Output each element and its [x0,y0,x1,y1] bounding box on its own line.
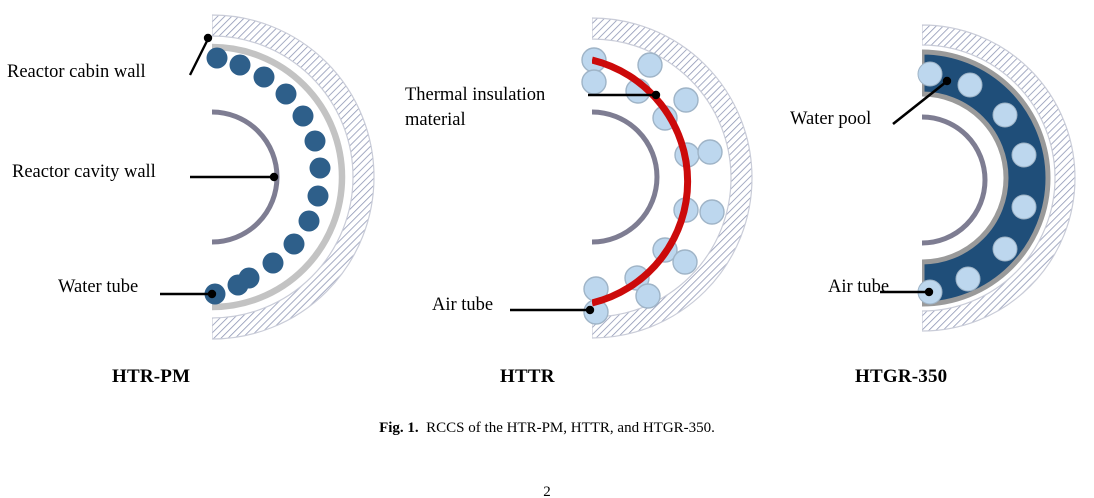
panel-httr-diagram [510,18,752,338]
page-number: 2 [0,484,1094,498]
panel-htgr-350-diagram [880,25,1075,331]
figure-caption-text: RCCS of the HTR-PM, HTTR, and HTGR-350. [426,420,715,436]
label-water-pool: Water pool [790,107,871,132]
label-reactor-cavity-wall: Reactor cavity wall [12,160,156,185]
panel-title-htr-pm: HTR-PM [112,366,190,388]
label-thermal-insulation-line1: Thermal insulation [405,85,545,105]
figure-rccs-comparison: Reactor cabin wall Reactor cavity wall W… [0,0,1094,498]
reactor-cavity-wall-shape [922,117,985,243]
label-thermal-insulation-line2: material [405,110,466,130]
label-air-tube-htgr: Air tube [828,275,889,300]
label-thermal-insulation-material: Thermal insulationmaterial [405,83,545,133]
panel-htr-pm-diagram [160,15,374,339]
panel-title-htgr-350: HTGR-350 [855,366,947,388]
panel-title-httr: HTTR [500,366,555,388]
figure-caption: Fig. 1. RCCS of the HTR-PM, HTTR, and HT… [0,420,1094,437]
label-reactor-cabin-wall: Reactor cabin wall [7,60,146,85]
label-air-tube-httr: Air tube [432,293,493,318]
figure-caption-prefix: Fig. 1. [379,420,419,436]
label-water-tube: Water tube [58,275,138,300]
reactor-cavity-wall-shape [592,112,657,242]
